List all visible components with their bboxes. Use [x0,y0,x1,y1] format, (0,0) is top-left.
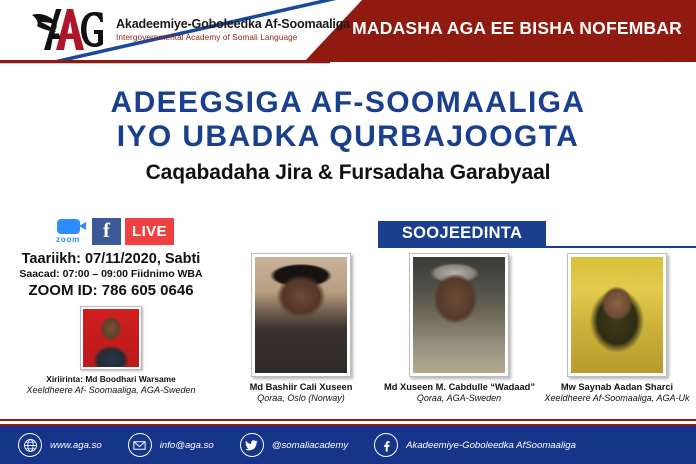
speaker-name: Md Xuseen M. Cabdulle “Wadaad” [384,382,534,392]
zoom-id: ZOOM ID: 786 605 0646 [0,282,222,299]
footer-website[interactable]: www.aga.so [18,433,102,457]
presenters-banner: SOOJEEDINTA [378,221,546,246]
poster-header: Akadeemiye-Goboleedka Af-Soomaaliga Inte… [0,0,696,62]
speaker-photo [255,257,347,373]
speaker-photo-frame [409,253,509,377]
speaker-role: Xeeldheere Af-Soomaaliga, AGA-Uk [542,393,692,403]
moderator-role: Xeeldheere Af- Soomaaliga, AGA-Sweden [0,385,222,395]
facebook-icon [374,433,398,457]
footer-twitter[interactable]: @somaliacademy [240,433,348,457]
event-time: Saacad: 07:00 – 09:00 Fiidnimo WBA [0,268,222,280]
facebook-icon[interactable]: f [92,218,121,245]
twitter-icon [240,433,264,457]
zoom-label: zoom [56,235,80,244]
footer-email-label: info@aga.so [160,440,214,451]
speaker-name: Mw Saynab Aadan Sharci [542,382,692,392]
speaker-role: Qoraa, AGA-Sweden [384,393,534,403]
header-grey-rule [0,63,330,64]
aga-logo-tagline: Intergovernmental Academy of Somali Lang… [116,32,350,43]
page-title-line2: IYO UBADKA QURBAJOOGTA [0,120,696,154]
zoom-camera-icon [57,219,80,234]
speaker-photo-frame [251,253,351,377]
aga-logo-name: Akadeemiye-Goboleedka Af-Soomaaliga [116,17,350,32]
speaker-card: Md Xuseen M. Cabdulle “Wadaad” Qoraa, AG… [384,253,534,403]
footer-facebook[interactable]: Akadeemiye-Goboleedka AfSoomaaliga [374,433,576,457]
moderator-name: Xiriirinta: Md Boodhari Warsame [0,374,222,384]
presenters-banner-label: SOOJEEDINTA [402,224,522,243]
globe-icon [18,433,42,457]
broadcast-info-panel: zoom f LIVE Taariikh: 07/11/2020, Sabti … [0,216,222,395]
speaker-photo-frame [567,253,667,377]
speakers-list: Md Bashiir Cali Xuseen Qoraa, Oslo (Norw… [222,253,696,403]
moderator-photo [83,309,139,367]
poster-title-block: ADEEGSIGA AF-SOOMAALIGA IYO UBADKA QURBA… [0,86,696,185]
speaker-name: Md Bashiir Cali Xuseen [226,382,376,392]
aga-logo-mark [26,6,112,54]
footer-website-label: www.aga.so [50,440,102,451]
header-banner-title: MADASHA AGA EE BISHA NOFEMBAR [352,18,682,39]
speaker-card: Mw Saynab Aadan Sharci Xeeldheere Af-Soo… [542,253,692,403]
envelope-icon [128,433,152,457]
speaker-role: Qoraa, Oslo (Norway) [226,393,376,403]
page-title-line1: ADEEGSIGA AF-SOOMAALIGA [0,86,696,120]
live-badge: LIVE [125,218,174,245]
footer-email[interactable]: info@aga.so [128,433,214,457]
aga-logo: Akadeemiye-Goboleedka Af-Soomaaliga Inte… [26,6,350,54]
quill-feather-icon [26,6,112,54]
broadcast-badges: zoom f LIVE [0,216,222,246]
speaker-photo [571,257,663,373]
poster-footer: www.aga.so info@aga.so @somaliacademy [0,426,696,464]
event-poster: Akadeemiye-Goboleedka Af-Soomaaliga Inte… [0,0,696,464]
moderator-photo-frame [80,306,142,370]
speaker-card: Md Bashiir Cali Xuseen Qoraa, Oslo (Norw… [226,253,376,403]
aga-logo-text: Akadeemiye-Goboleedka Af-Soomaaliga Inte… [116,17,350,43]
event-date: Taariikh: 07/11/2020, Sabti [0,251,222,267]
presenters-banner-underline [378,246,696,248]
zoom-badge[interactable]: zoom [48,219,88,244]
page-subtitle: Caqabadaha Jira & Fursadaha Garabyaal [0,161,696,185]
speaker-photo [413,257,505,373]
footer-twitter-label: @somaliacademy [272,440,348,451]
footer-facebook-label: Akadeemiye-Goboleedka AfSoomaaliga [406,440,576,451]
